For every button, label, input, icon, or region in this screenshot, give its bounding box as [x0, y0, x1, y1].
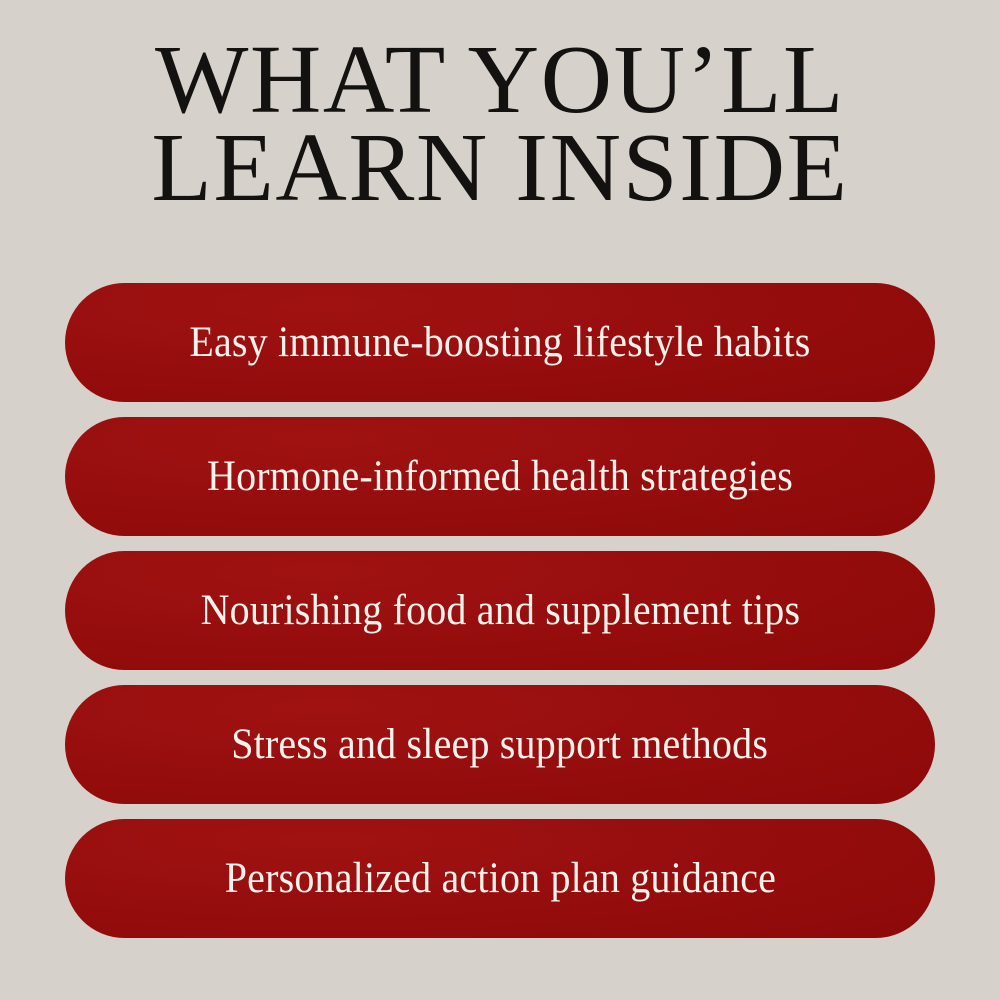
- list-item-label: Stress and sleep support methods: [232, 723, 769, 766]
- list-item: Nourishing food and supplement tips: [65, 551, 935, 670]
- page-title: WHAT YOU’LL LEARN INSIDE: [0, 36, 1000, 212]
- list-item-label: Personalized action plan guidance: [224, 857, 775, 900]
- poster-canvas: WHAT YOU’LL LEARN INSIDE Easy immune-boo…: [0, 0, 1000, 1000]
- page-title-line-2: LEARN INSIDE: [0, 124, 1000, 212]
- list-item: Stress and sleep support methods: [65, 685, 935, 804]
- list-item: Personalized action plan guidance: [65, 819, 935, 938]
- list-item-label: Hormone-informed health strategies: [207, 455, 793, 498]
- list-item: Easy immune-boosting lifestyle habits: [65, 283, 935, 402]
- list-item-label: Easy immune-boosting lifestyle habits: [189, 321, 810, 364]
- list-item: Hormone-informed health strategies: [65, 417, 935, 536]
- list-item-label: Nourishing food and supplement tips: [200, 589, 800, 632]
- learning-points-list: Easy immune-boosting lifestyle habits Ho…: [65, 283, 935, 938]
- page-title-line-1: WHAT YOU’LL: [0, 36, 1000, 124]
